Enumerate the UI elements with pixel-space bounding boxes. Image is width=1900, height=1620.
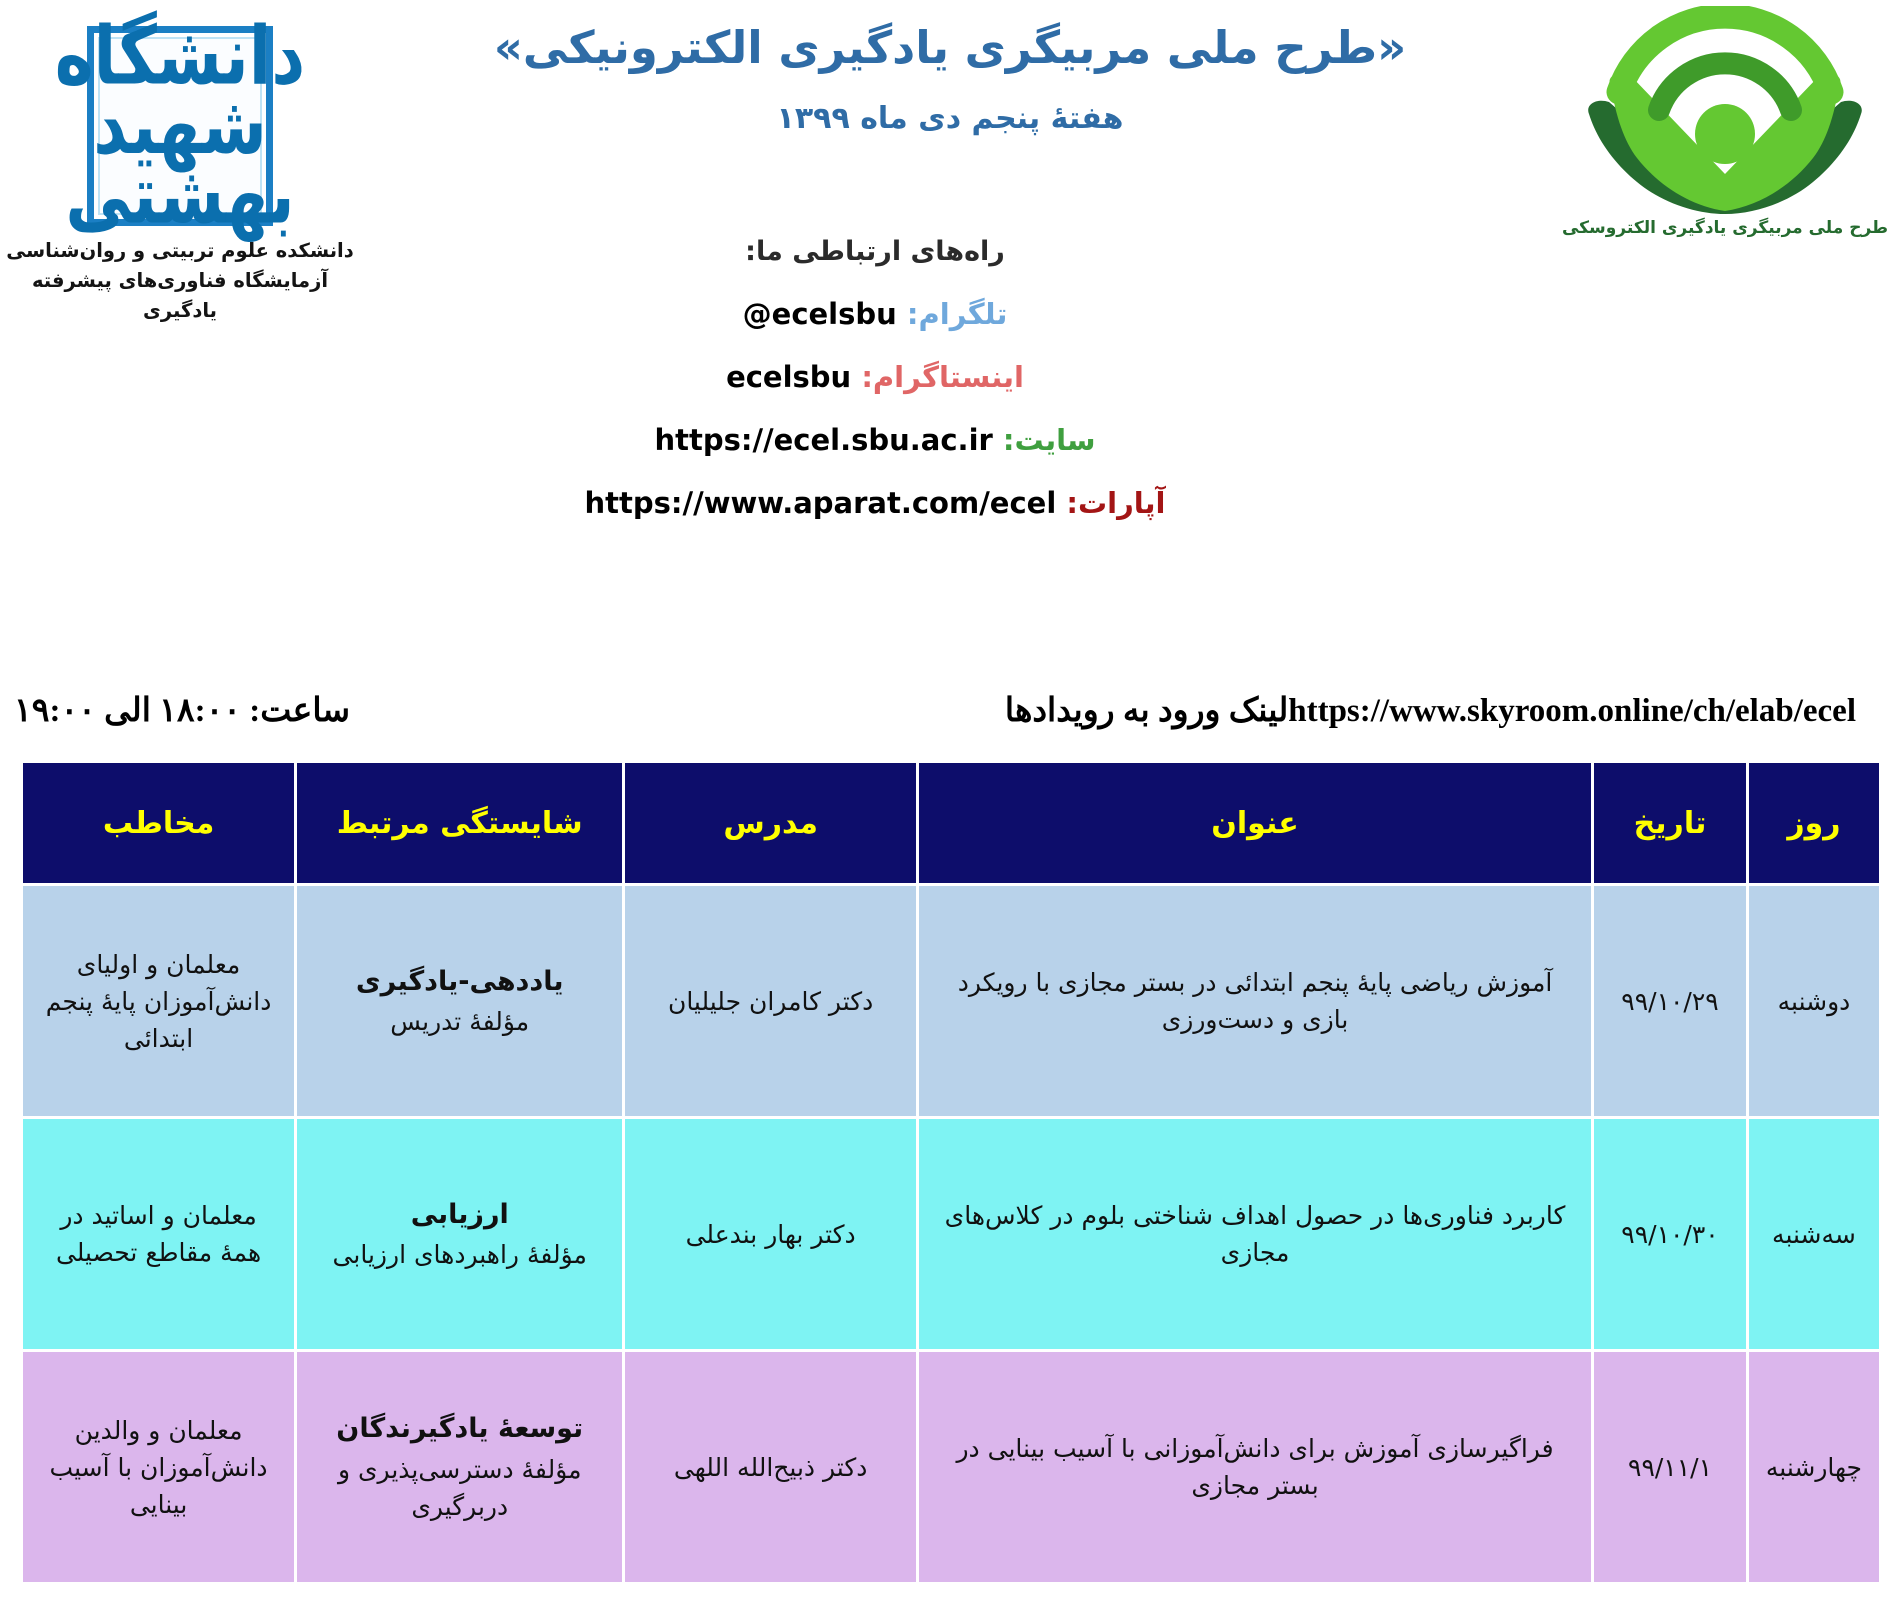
contact-separator-instagram: : [861,360,873,394]
table-row: دوشنبه ۹۹/۱۰/۲۹ آموزش ریاضی پایهٔ پنجم ا… [23,886,1879,1116]
contact-row-instagram: اینستاگرام: ecelsbu [0,360,1900,394]
cell-date: ۹۹/۱۰/۳۰ [1594,1119,1746,1349]
cell-competency: ارزیابی مؤلفهٔ راهبردهای ارزیابی [297,1119,622,1349]
cell-competency: توسعهٔ یادگیرندگان مؤلفهٔ دسترسی‌پذیری و… [297,1352,622,1582]
competency-main: توسعهٔ یادگیرندگان [311,1409,608,1449]
table-row: چهارشنبه ۹۹/۱۱/۱ فراگیرسازی آموزش برای د… [23,1352,1879,1582]
contact-block: راه‌های ارتباطی ما: تلگرام: @ecelsbu این… [0,236,1900,549]
contact-value-instagram[interactable]: ecelsbu [726,360,851,394]
contact-value-aparat[interactable]: https://www.aparat.com/ecel [585,486,1057,520]
contact-row-telegram: تلگرام: @ecelsbu [0,297,1900,331]
column-header-title: عنوان [919,763,1591,883]
sbu-logo: دانشگاه شهید بهشتی [87,26,273,226]
contact-separator-aparat: : [1066,486,1078,520]
cell-lecturer: دکتر ذبیح‌الله اللهی [625,1352,916,1582]
session-time: ساعت: ۱۸:۰۰ الی ۱۹:۰۰ [14,690,350,730]
contact-value-website[interactable]: https://ecel.sbu.ac.ir [654,423,992,457]
cell-lecturer: دکتر بهار بندعلی [625,1119,916,1349]
competency-sub: مؤلفهٔ راهبردهای ارزیابی [311,1236,608,1273]
cell-audience: معلمان و اولیای دانش‌آموزان پایهٔ پنجم ا… [23,886,294,1116]
contact-heading: راه‌های ارتباطی ما: [0,236,1900,267]
cell-date: ۹۹/۱۱/۱ [1594,1352,1746,1582]
contact-label-telegram: تلگرام [919,297,1008,331]
competency-main: ارزیابی [311,1195,608,1235]
table-row: سه‌شنبه ۹۹/۱۰/۳۰ کاربرد فناوری‌ها در حصو… [23,1119,1879,1349]
column-header-audience: مخاطب [23,763,294,883]
cell-audience: معلمان و اساتید در همهٔ مقاطع تحصیلی [23,1119,294,1349]
cell-date: ۹۹/۱۰/۲۹ [1594,886,1746,1116]
broadcast-hands-icon [1575,6,1875,216]
cell-day: چهارشنبه [1749,1352,1879,1582]
cell-title: فراگیرسازی آموزش برای دانش‌آموزانی با آس… [919,1352,1591,1582]
entry-link-group: https://www.skyroom.online/ch/elab/ecelل… [1005,690,1882,730]
entry-link-url[interactable]: https://www.skyroom.online/ch/elab/ecel [1288,693,1856,730]
contact-value-telegram[interactable]: @ecelsbu [743,297,897,331]
column-header-day: روز [1749,763,1879,883]
entry-link-label: لینک ورود به رویدادها [1005,693,1288,729]
page-title: «طرح ملی مربیگری یادگیری الکترونیکی» [360,18,1540,79]
schedule-table: روز تاریخ عنوان مدرس شایستگی مرتبط مخاطب… [20,760,1882,1585]
table-header-row: روز تاریخ عنوان مدرس شایستگی مرتبط مخاطب [23,763,1879,883]
poster-page: دانشگاه شهید بهشتی دانشکده علوم تربیتی و… [0,0,1900,1620]
page-subtitle: هفتهٔ پنجم دی ماه ۱۳۹۹ [360,99,1540,140]
cell-audience: معلمان و والدین دانش‌آموزان با آسیب بینا… [23,1352,294,1582]
cell-day: دوشنبه [1749,886,1879,1116]
contact-label-instagram: اینستاگرام [873,360,1024,394]
column-header-lecturer: مدرس [625,763,916,883]
program-logo-caption: طرح ملی مربیگری یادگیری الکتروسکی [1560,218,1890,238]
cell-title: کاربرد فناوری‌ها در حصول اهداف شناختی بل… [919,1119,1591,1349]
cell-lecturer: دکتر کامران جلیلیان [625,886,916,1116]
contact-label-website: سایت [1015,423,1096,457]
contact-label-aparat: آپارات [1078,486,1166,520]
competency-sub: مؤلفهٔ دسترسی‌پذیری و دربرگیری [311,1451,608,1525]
sbu-logo-frame: دانشگاه شهید بهشتی [98,37,262,215]
contact-separator-telegram: : [907,297,919,331]
contact-row-aparat: آپارات: https://www.aparat.com/ecel [0,486,1900,520]
cell-competency: یاددهی-یادگیری مؤلفهٔ تدریس [297,886,622,1116]
cell-title: آموزش ریاضی پایهٔ پنجم ابتدائی در بستر م… [919,886,1591,1116]
column-header-competency: شایستگی مرتبط [297,763,622,883]
cell-day: سه‌شنبه [1749,1119,1879,1349]
column-header-date: تاریخ [1594,763,1746,883]
contact-separator-website: : [1003,423,1015,457]
competency-sub: مؤلفهٔ تدریس [311,1003,608,1040]
event-info-bar: https://www.skyroom.online/ch/elab/ecelل… [0,690,1900,746]
contact-row-website: سایت: https://ecel.sbu.ac.ir [0,423,1900,457]
program-logo-block: طرح ملی مربیگری یادگیری الکتروسکی [1560,6,1890,238]
schedule-table-wrap: روز تاریخ عنوان مدرس شایستگی مرتبط مخاطب… [20,760,1882,1585]
competency-main: یاددهی-یادگیری [311,962,608,1002]
title-block: «طرح ملی مربیگری یادگیری الکترونیکی» هفت… [360,18,1540,139]
sbu-logo-calligraphy: دانشگاه شهید بهشتی [55,22,306,230]
